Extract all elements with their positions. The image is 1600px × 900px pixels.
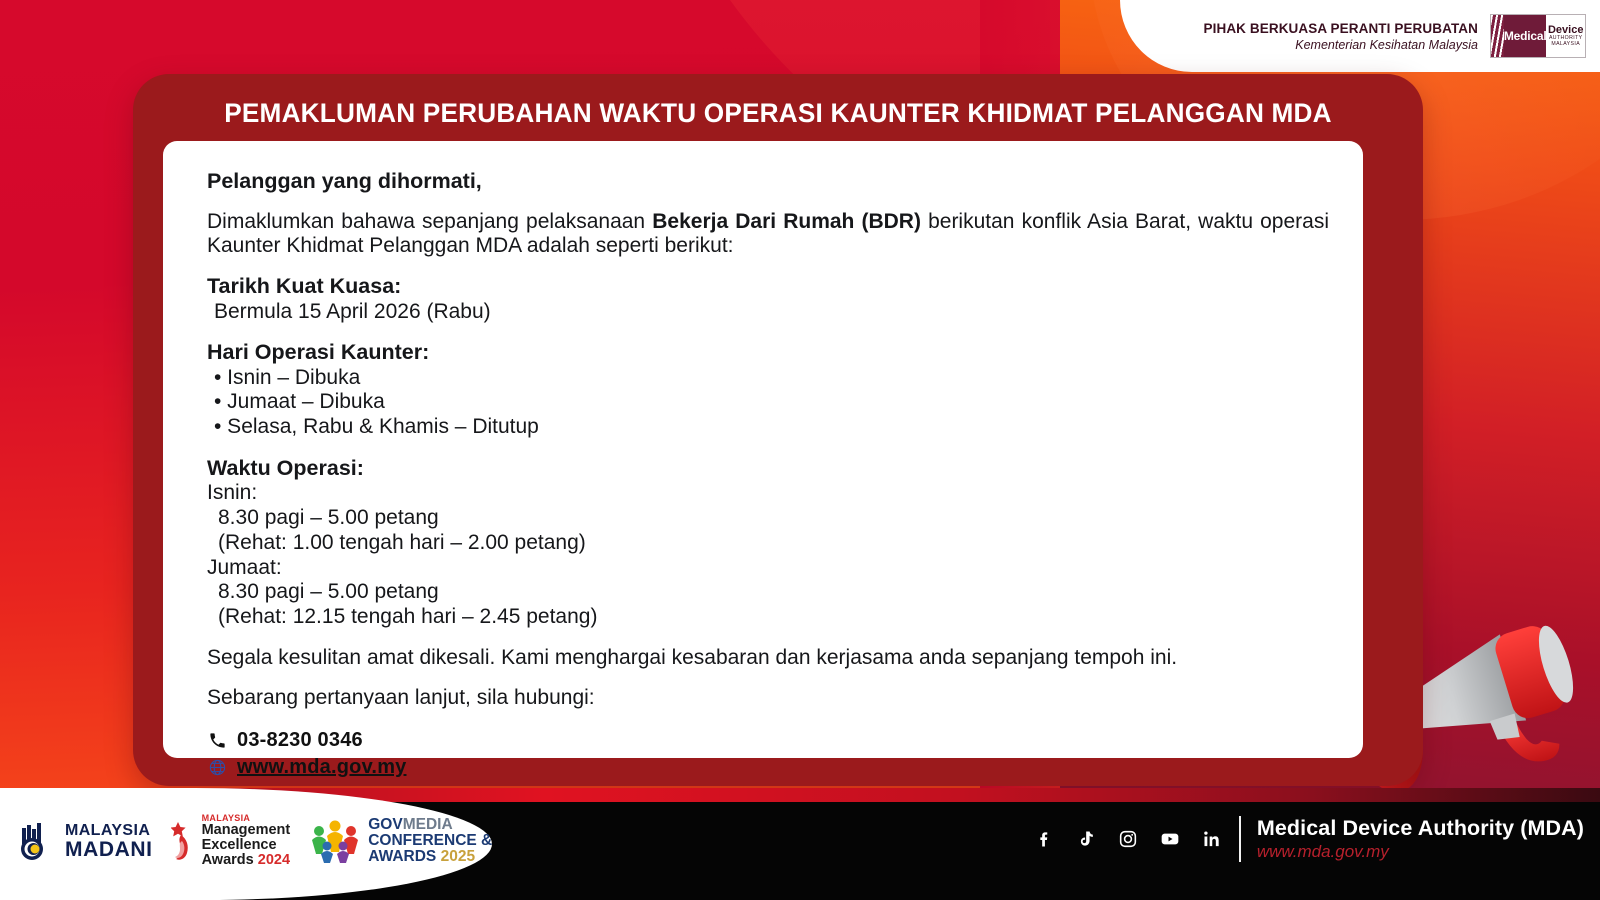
madani-line2: MADANI [65,839,153,860]
operating-day-item: • Jumaat – Dibuka [207,390,1329,415]
mmea-wordmark: MALAYSIA Management Excellence Awards 20… [202,814,291,868]
footer-divider [1239,816,1241,862]
gmc-wordmark: GOVMEDIA CONFERENCE & AWARDS 2025 [368,817,492,865]
mmea-line2: Management [202,823,291,838]
ministry-name: Kementerian Kesihatan Malaysia [1204,38,1478,52]
mda-logo-stripes [1491,15,1504,57]
page-title: PEMAKLUMAN PERUBAHAN WAKTU OPERASI KAUNT… [152,98,1403,129]
monday-label: Isnin: [207,481,1329,506]
website-row[interactable]: www.mda.gov.my [207,754,1329,781]
mda-logo-country-word: MALAYSIA [1551,42,1580,47]
mda-logo-right-block: Device AUTHORITY MALAYSIA [1546,15,1585,57]
header-banner: PIHAK BERKUASA PERANTI PERUBATAN Kemente… [1120,0,1600,72]
operating-days-heading: Hari Operasi Kaunter: [207,340,1329,364]
operating-hours-section: Waktu Operasi: Isnin: 8.30 pagi – 5.00 p… [207,456,1329,630]
friday-break: (Rehat: 12.15 tengah hari – 2.45 petang) [207,605,1329,630]
mmea-awards-word: Awards [202,852,254,868]
gmc-line1: GOVMEDIA [368,817,492,833]
friday-time: 8.30 pagi – 5.00 petang [207,580,1329,605]
mmea-line4: Awards 2024 [202,853,291,868]
operating-hours-heading: Waktu Operasi: [207,456,1329,480]
footer-org-name: Medical Device Authority (MDA) [1257,816,1584,841]
agency-name: PIHAK BERKUASA PERANTI PERUBATAN [1204,21,1478,36]
malaysia-madani-logo: MALAYSIA MADANI [18,820,153,862]
effective-date-value: Bermula 15 April 2026 (Rabu) [207,300,1329,325]
contact-intro: Sebarang pertanyaan lanjut, sila hubungi… [207,686,1329,710]
footer-org-block: Medical Device Authority (MDA) www.mda.g… [1257,816,1584,861]
gmc-people-icon [308,818,362,864]
gov-media-logo: GOVMEDIA CONFERENCE & AWARDS 2025 [308,817,492,865]
gmc-line3: AWARDS 2025 [368,849,492,865]
phone-row[interactable]: 03-8230 0346 [207,727,1329,754]
salutation: Pelanggan yang dihormati, [207,169,1329,193]
phone-number: 03-8230 0346 [237,729,363,752]
apology-paragraph: Segala kesulitan amat dikesali. Kami men… [207,646,1329,670]
gmc-media-word: MEDIA [403,816,453,833]
mmea-award-logo: MALAYSIA Management Excellence Awards 20… [171,814,291,868]
globe-icon [207,758,228,777]
mda-logo: Medical Device AUTHORITY MALAYSIA [1490,14,1586,58]
operating-day-item: • Isnin – Dibuka [207,366,1329,391]
madani-wordmark: MALAYSIA MADANI [65,823,153,860]
effective-date-heading: Tarikh Kuat Kuasa: [207,274,1329,298]
footer-org-url[interactable]: www.mda.gov.my [1257,842,1584,862]
operating-days-section: Hari Operasi Kaunter: • Isnin – Dibuka •… [207,340,1329,440]
mda-logo-medical-word: Medical [1504,15,1547,57]
social-links [1033,828,1223,850]
website-link[interactable]: www.mda.gov.my [237,756,407,779]
phone-icon [207,731,228,750]
linkedin-icon[interactable] [1201,828,1223,850]
monday-time: 8.30 pagi – 5.00 petang [207,506,1329,531]
gmc-line2: CONFERENCE & [368,833,492,849]
mmea-trophy-icon [171,819,197,863]
operating-day-item: • Selasa, Rabu & Khamis – Ditutup [207,415,1329,440]
announcement-card: PEMAKLUMAN PERUBAHAN WAKTU OPERASI KAUNT… [133,74,1423,786]
facebook-icon[interactable] [1033,828,1055,850]
intro-part1: Dimaklumkan bahawa sepanjang pelaksanaan [207,210,652,233]
friday-label: Jumaat: [207,556,1329,581]
effective-date-section: Tarikh Kuat Kuasa: Bermula 15 April 2026… [207,274,1329,324]
intro-paragraph: Dimaklumkan bahawa sepanjang pelaksanaan… [207,210,1329,257]
mmea-year: 2024 [258,852,290,868]
mmea-line3: Excellence [202,838,291,853]
footer-logo-group: MALAYSIA MADANI MALAYSIA Management Exce… [18,814,492,868]
gmc-year: 2025 [441,848,475,865]
tiktok-icon[interactable] [1075,828,1097,850]
contact-block: 03-8230 0346 www.mda.gov.my [207,727,1329,781]
gmc-gov-word: GOV [368,816,402,833]
footer: MALAYSIA MADANI MALAYSIA Management Exce… [0,788,1600,900]
youtube-icon[interactable] [1159,828,1181,850]
madani-emblem-icon [18,820,58,862]
intro-highlight: Bekerja Dari Rumah (BDR) [652,210,921,233]
header-agency-text: PIHAK BERKUASA PERANTI PERUBATAN Kemente… [1204,21,1478,52]
poster-canvas: PIHAK BERKUASA PERANTI PERUBATAN Kemente… [0,0,1600,900]
monday-break: (Rehat: 1.00 tengah hari – 2.00 petang) [207,531,1329,556]
footer-right-group: Medical Device Authority (MDA) www.mda.g… [1033,816,1584,862]
instagram-icon[interactable] [1117,828,1139,850]
gmc-awards-word: AWARDS [368,848,436,865]
madani-line1: MALAYSIA [65,823,153,839]
announcement-body: Pelanggan yang dihormati, Dimaklumkan ba… [163,141,1363,758]
